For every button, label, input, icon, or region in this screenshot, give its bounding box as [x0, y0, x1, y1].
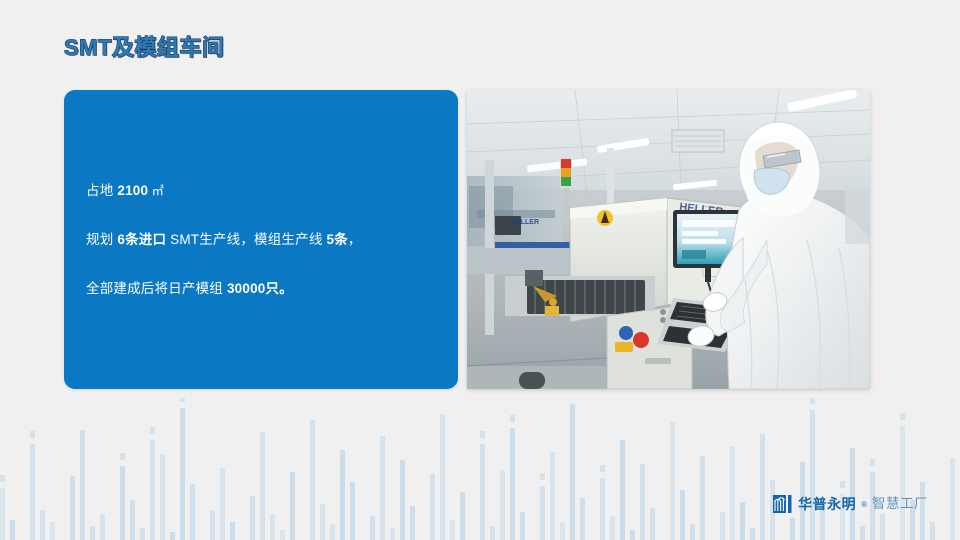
decorative-bar	[810, 410, 815, 540]
decorative-bar	[620, 440, 625, 540]
decorative-bar	[610, 516, 615, 540]
cleanroom-photo: HELLER HELLER	[467, 90, 870, 389]
decorative-bar	[410, 506, 415, 540]
decorative-bar-segment	[510, 415, 515, 422]
decorative-bar	[860, 526, 865, 540]
decorative-bar	[490, 526, 495, 540]
decorative-bar	[230, 522, 235, 540]
info-line-3-bold: 30000只。	[227, 281, 293, 296]
decorative-bar-segment	[150, 427, 155, 434]
decorative-bar-segment	[120, 453, 125, 460]
decorative-bar	[350, 482, 355, 540]
decorative-bar	[880, 514, 885, 540]
decorative-bar	[340, 450, 345, 540]
info-line-1: 占地 2100 ㎡	[86, 182, 440, 200]
decorative-bar	[320, 504, 325, 540]
decorative-bar	[650, 508, 655, 540]
decorative-bar	[50, 522, 55, 540]
info-panel-body: 占地 2100 ㎡ 规划 6条进口 SMT生产线，模组生产线 5条， 全部建成后…	[86, 182, 440, 299]
decorative-bar	[950, 458, 955, 540]
decorative-bar	[430, 474, 435, 540]
slide-root: SMT及模组车间 占地 2100 ㎡ 规划 6条进口 SMT生产线，模组生产线 …	[0, 0, 960, 540]
decorative-bar	[790, 518, 795, 540]
decorative-bar-segment	[0, 475, 5, 482]
decorative-bar-segment	[480, 431, 485, 438]
decorative-bar	[220, 468, 225, 540]
decorative-bar	[90, 526, 95, 540]
decorative-bar	[30, 444, 35, 540]
info-line-1-bold: 2100	[117, 183, 148, 198]
decorative-bar	[480, 444, 485, 540]
decorative-bar	[630, 530, 635, 540]
decorative-bar	[900, 426, 905, 540]
decorative-bar	[690, 524, 695, 540]
decorative-bar	[190, 484, 195, 540]
decorative-bar-segment	[810, 398, 815, 404]
decorative-bar	[520, 512, 525, 540]
decorative-bar	[750, 528, 755, 540]
decorative-bar	[400, 460, 405, 540]
brand-logo: 华普永明® 智慧工厂	[773, 495, 928, 513]
svg-text:HELLER: HELLER	[511, 219, 539, 226]
logo-mark-icon	[773, 495, 793, 513]
decorative-bar	[510, 428, 515, 540]
decorative-bar	[120, 466, 125, 540]
decorative-bar	[210, 510, 215, 540]
decorative-bar-segment	[540, 473, 545, 480]
decorative-bar	[370, 516, 375, 540]
decorative-bar	[80, 430, 85, 540]
info-line-2-prefix: 规划	[86, 232, 117, 247]
info-line-3: 全部建成后将日产模组 30000只。	[86, 280, 440, 298]
info-line-2-bold-1: 6条进口	[117, 232, 166, 247]
cleanroom-photo-illustration: HELLER HELLER	[467, 90, 870, 389]
decorative-bar	[500, 470, 505, 540]
decorative-bar	[700, 456, 705, 540]
decorative-bar	[270, 514, 275, 540]
decorative-bar	[580, 498, 585, 540]
decorative-bar-chart-band	[0, 398, 960, 540]
decorative-bar-segment	[30, 431, 35, 438]
info-panel: 占地 2100 ㎡ 规划 6条进口 SMT生产线，模组生产线 5条， 全部建成后…	[64, 90, 458, 389]
decorative-bar	[40, 510, 45, 540]
decorative-bar	[280, 530, 285, 540]
decorative-bar	[380, 436, 385, 540]
decorative-bar	[720, 512, 725, 540]
logo-subbrand-text: 智慧工厂	[872, 497, 928, 511]
decorative-bar	[310, 420, 315, 540]
decorative-bar	[540, 486, 545, 540]
decorative-bar	[460, 492, 465, 540]
info-line-3-prefix: 全部建成后将日产模组	[86, 281, 227, 296]
decorative-bar	[760, 434, 765, 540]
decorative-bar	[560, 522, 565, 540]
decorative-bar-segment	[840, 481, 845, 488]
decorative-bar	[440, 414, 445, 540]
decorative-bar	[740, 502, 745, 540]
decorative-bar	[570, 404, 575, 540]
info-line-2: 规划 6条进口 SMT生产线，模组生产线 5条，	[86, 231, 440, 249]
decorative-bar	[850, 448, 855, 540]
decorative-bar	[160, 454, 165, 540]
info-line-2-suffix: ，	[348, 232, 362, 247]
info-line-1-prefix: 占地	[86, 183, 117, 198]
decorative-bar	[260, 432, 265, 540]
logo-brand-text: 华普永明	[798, 497, 856, 511]
decorative-bar	[450, 520, 455, 540]
decorative-bar	[100, 514, 105, 540]
decorative-bar	[70, 476, 75, 540]
decorative-bar-segment	[900, 413, 905, 420]
decorative-bar-segment	[600, 465, 605, 472]
decorative-bar-segment	[870, 459, 875, 466]
decorative-bar	[330, 524, 335, 540]
decorative-bar	[680, 490, 685, 540]
decorative-bar	[390, 528, 395, 540]
decorative-bar	[180, 408, 185, 540]
decorative-bar	[290, 472, 295, 540]
page-title-text: SMT及模组车间	[64, 37, 224, 59]
logo-trademark: ®	[861, 500, 867, 509]
decorative-bar	[140, 528, 145, 540]
decorative-bar	[250, 496, 255, 540]
decorative-bar	[930, 522, 935, 540]
info-line-2-mid: SMT生产线，模组生产线	[166, 232, 326, 247]
decorative-bar	[130, 500, 135, 540]
decorative-bar	[640, 464, 645, 540]
info-line-2-bold-2: 5条	[326, 232, 347, 247]
decorative-bar	[170, 532, 175, 540]
decorative-bar	[670, 422, 675, 540]
decorative-bar-segment	[180, 398, 185, 402]
decorative-bar	[600, 478, 605, 540]
decorative-bar	[730, 446, 735, 540]
info-line-1-suffix: ㎡	[148, 184, 164, 198]
decorative-bar	[10, 520, 15, 540]
decorative-bar	[0, 488, 5, 540]
page-title: SMT及模组车间	[64, 33, 224, 63]
decorative-bar	[150, 440, 155, 540]
decorative-bar	[550, 452, 555, 540]
